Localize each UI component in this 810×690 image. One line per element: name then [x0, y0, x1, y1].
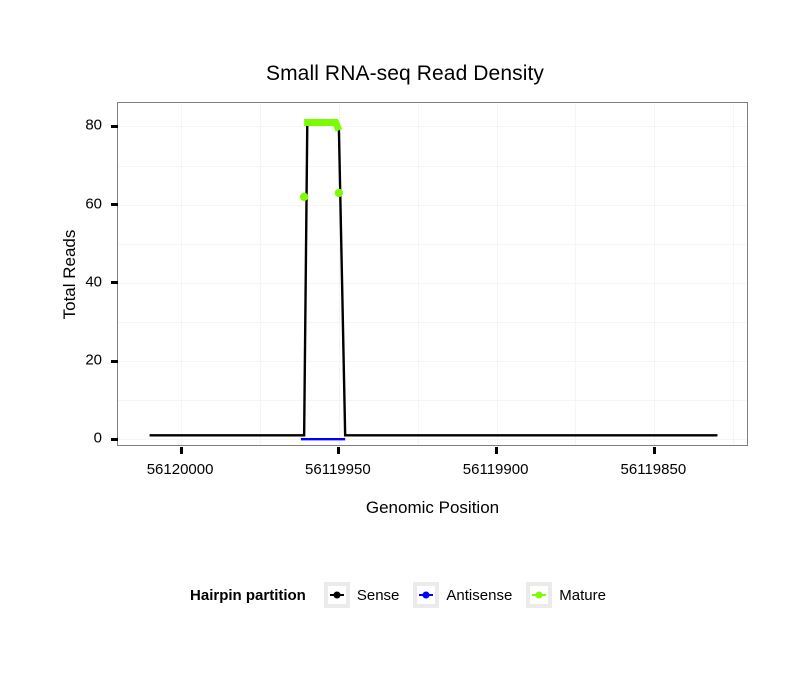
- series-canvas: [118, 103, 747, 445]
- mature-data-point: [335, 189, 343, 197]
- x-axis-tick-label: 56120000: [147, 461, 214, 478]
- y-axis-tick-label: 80: [64, 117, 102, 134]
- x-axis-tick: [337, 447, 340, 454]
- x-axis-tick: [495, 447, 498, 454]
- legend-item-sense[interactable]: Sense: [324, 582, 400, 608]
- x-axis-tick-label: 56119950: [305, 461, 371, 478]
- legend-key-swatch: [324, 582, 350, 608]
- legend-item-label: Antisense: [446, 587, 512, 604]
- mature-data-point: [300, 193, 308, 201]
- y-axis-tick: [111, 281, 118, 284]
- y-axis-tick-label: 60: [64, 195, 102, 212]
- y-axis-tick-label: 0: [64, 430, 102, 447]
- y-axis-tick: [111, 203, 118, 206]
- x-axis-title: Genomic Position: [117, 498, 748, 518]
- y-axis-tick: [111, 438, 118, 441]
- legend-item-label: Sense: [357, 587, 400, 604]
- legend-point-icon: [333, 592, 340, 599]
- y-axis-tick: [111, 125, 118, 128]
- legend-title: Hairpin partition: [190, 587, 306, 604]
- y-axis-tick-label: 40: [64, 273, 102, 290]
- legend-item-antisense[interactable]: Antisense: [413, 582, 512, 608]
- x-axis-tick: [180, 447, 183, 454]
- plot-area: [118, 103, 747, 445]
- legend-point-icon: [536, 592, 543, 599]
- legend-key-swatch: [526, 582, 552, 608]
- chart-figure: Small RNA-seq Read Density Total Reads 0…: [0, 0, 810, 690]
- legend-item-label: Mature: [559, 587, 606, 604]
- x-axis-tick-label: 56119900: [463, 461, 529, 478]
- series-line-sense: [150, 123, 718, 436]
- series-line-mature: [304, 123, 339, 131]
- x-axis-tick-label: 56119850: [621, 461, 687, 478]
- plot-panel: [117, 102, 748, 446]
- chart-legend: Hairpin partition SenseAntisenseMature: [0, 582, 810, 608]
- legend-key-swatch: [413, 582, 439, 608]
- chart-title: Small RNA-seq Read Density: [0, 62, 810, 86]
- x-axis-tick: [653, 447, 656, 454]
- legend-item-mature[interactable]: Mature: [526, 582, 606, 608]
- y-axis-tick: [111, 360, 118, 363]
- legend-point-icon: [423, 592, 430, 599]
- y-axis-tick-label: 20: [64, 352, 102, 369]
